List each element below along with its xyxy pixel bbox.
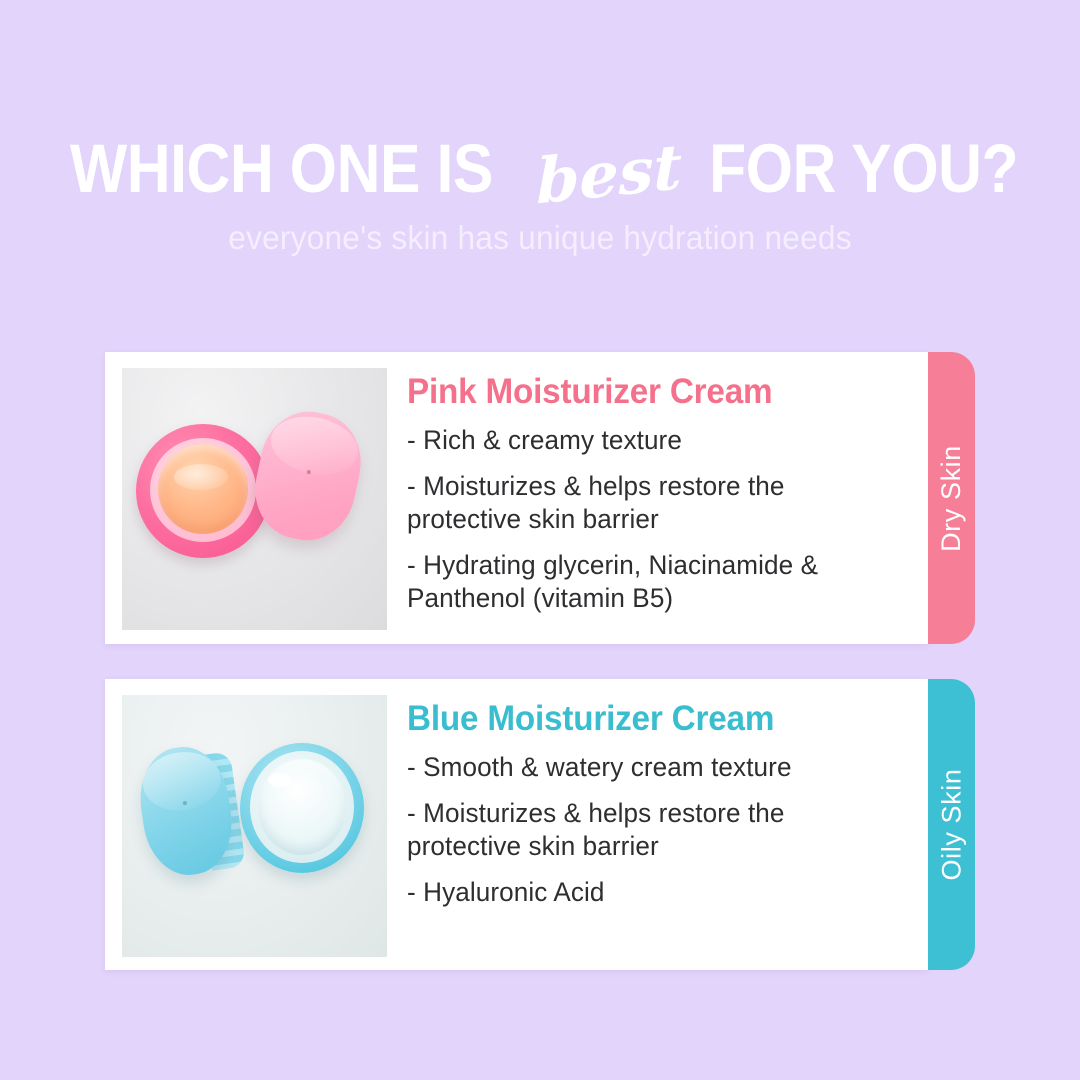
product-photo-backdrop	[122, 695, 387, 957]
page-title-script-word: best	[522, 129, 687, 221]
product-image-pink	[122, 368, 387, 630]
page-title-part-2: FOR YOU?	[709, 132, 1018, 206]
list-item: - Hyaluronic Acid	[407, 876, 895, 909]
page-subtitle: everyone's skin has unique hydration nee…	[22, 218, 1059, 258]
page-title: WHICH ONE IS best FOR YOU?	[0, 132, 1080, 206]
list-item: - Rich & creamy texture	[407, 424, 895, 457]
infographic-canvas: WHICH ONE IS best FOR YOU? everyone's sk…	[0, 0, 1080, 1080]
product-feature-list-blue: - Smooth & watery cream texture - Moistu…	[407, 751, 902, 909]
pink-jar-lid	[246, 403, 370, 549]
product-title-pink: Pink Moisturizer Cream	[407, 372, 877, 412]
list-item: - Hydrating glycerin, Niacinamide & Pant…	[407, 549, 895, 615]
list-item: - Moisturizes & helps restore the protec…	[407, 797, 895, 863]
product-image-blue	[122, 695, 387, 957]
skin-type-tab-label-dry: Dry Skin	[938, 445, 965, 552]
product-details-pink: Pink Moisturizer Cream - Rich & creamy t…	[387, 352, 928, 615]
list-item: - Moisturizes & helps restore the protec…	[407, 470, 895, 536]
page-title-part-1: WHICH ONE IS	[70, 132, 493, 206]
product-card-pink[interactable]: Pink Moisturizer Cream - Rich & creamy t…	[105, 352, 928, 644]
pink-cream-surface	[158, 444, 248, 534]
skin-type-tab-label-oily: Oily Skin	[938, 769, 965, 881]
blue-cream-surface	[258, 759, 346, 855]
skin-type-tab-oily[interactable]: Oily Skin	[928, 679, 975, 970]
product-title-blue: Blue Moisturizer Cream	[407, 699, 877, 739]
product-photo-backdrop	[122, 368, 387, 630]
list-item: - Smooth & watery cream texture	[407, 751, 895, 784]
product-details-blue: Blue Moisturizer Cream - Smooth & watery…	[387, 679, 928, 909]
product-card-blue[interactable]: Blue Moisturizer Cream - Smooth & watery…	[105, 679, 928, 970]
skin-type-tab-dry[interactable]: Dry Skin	[928, 352, 975, 644]
header: WHICH ONE IS best FOR YOU? everyone's sk…	[0, 132, 1080, 258]
product-feature-list-pink: - Rich & creamy texture - Moisturizes & …	[407, 424, 902, 615]
